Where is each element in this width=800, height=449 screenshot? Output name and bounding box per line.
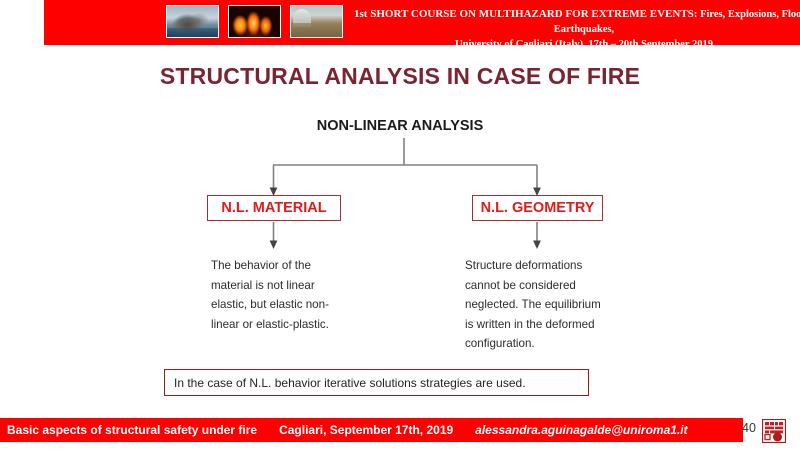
header-band: 1st SHORT COURSE ON MULTIHAZARD FOR EXTR… bbox=[44, 0, 800, 45]
footer-band: Basic aspects of structural safety under… bbox=[0, 418, 743, 442]
node-box-nl-geometry[interactable]: N.L. GEOMETRY bbox=[472, 195, 603, 221]
course-title-lead: 1st SHORT COURSE ON MULTIHAZARD FOR EXTR… bbox=[354, 8, 697, 20]
fire-explosion-photo bbox=[228, 5, 281, 38]
volcano-eruption-photo bbox=[166, 5, 219, 38]
conclusion-text: In the case of N.L. behavior iterative s… bbox=[174, 376, 526, 390]
node-box-nl-material[interactable]: N.L. MATERIAL bbox=[207, 195, 341, 221]
header-thumbnail-strip bbox=[166, 5, 343, 38]
description-nl-geometry: Structure deformations cannot be conside… bbox=[465, 256, 610, 354]
diagram-connectors bbox=[0, 130, 800, 400]
page-title: STRUCTURAL ANALYSIS IN CASE OF FIRE bbox=[0, 63, 800, 90]
university-logo bbox=[762, 419, 786, 443]
conclusion-box: In the case of N.L. behavior iterative s… bbox=[164, 369, 589, 396]
description-nl-material: The behavior of the material is not line… bbox=[211, 256, 351, 334]
footer-place-date: Cagliari, September 17th, 2019 bbox=[279, 423, 453, 437]
node-box-nl-geometry-label: N.L. GEOMETRY bbox=[481, 200, 595, 216]
page-number: 40 bbox=[738, 421, 760, 435]
course-header-line-1: 1st SHORT COURSE ON MULTIHAZARD FOR EXTR… bbox=[344, 7, 800, 37]
node-box-nl-material-label: N.L. MATERIAL bbox=[221, 200, 326, 216]
footer-email[interactable]: alessandra.aguinagalde@uniroma1.it bbox=[475, 423, 687, 437]
course-header-line-2: University of Cagliari (Italy), 17th – 2… bbox=[344, 37, 800, 52]
footer-course-title: Basic aspects of structural safety under… bbox=[7, 423, 257, 437]
course-header-text: 1st SHORT COURSE ON MULTIHAZARD FOR EXTR… bbox=[344, 7, 800, 52]
flood-photo bbox=[290, 5, 343, 38]
